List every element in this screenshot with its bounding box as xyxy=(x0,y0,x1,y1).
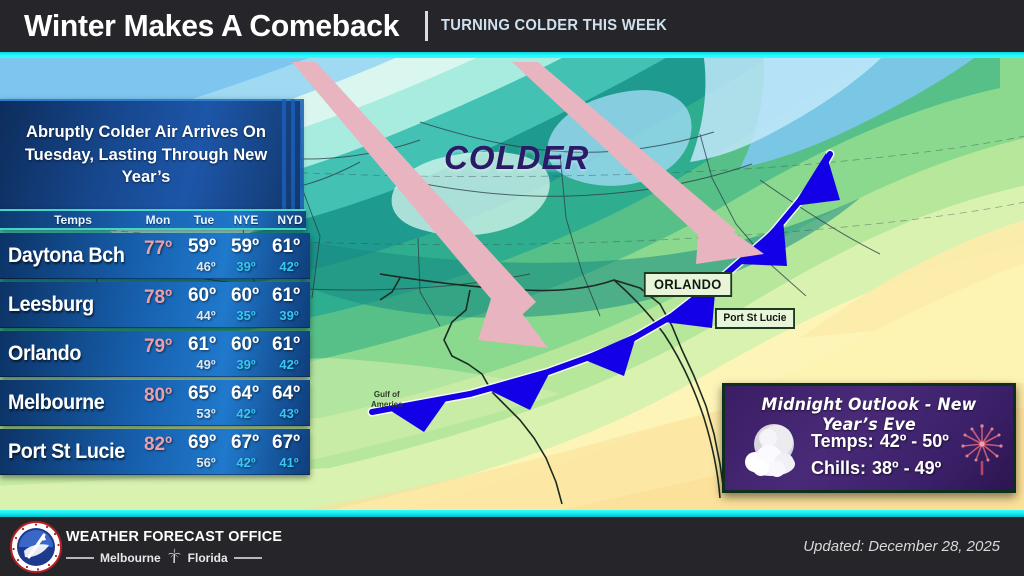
water-body-label: Gulf of America xyxy=(371,390,403,410)
cell-nyd-high: 61º xyxy=(262,334,310,356)
office-location: Melbourne Florida xyxy=(66,548,291,567)
outlook-chills-value: 38º - 49º xyxy=(872,455,941,482)
outlook-chills-label: Chills: xyxy=(811,455,866,482)
outlook-chills-row: Chills:38º - 49º xyxy=(811,455,949,482)
table-row: Melbourne 80º 65º 53º 64º 42º 64º 43º xyxy=(0,380,310,426)
cell-tue-high: 65º xyxy=(178,383,226,405)
outlook-temps-value: 42º - 50º xyxy=(880,428,949,455)
cell-nye-low: 35º xyxy=(222,308,270,323)
moon-behind-cloud-icon xyxy=(741,420,803,483)
cell-tue-high: 60º xyxy=(178,285,226,307)
cell-mon-high: 79º xyxy=(134,336,182,358)
cell-nyd-high: 61º xyxy=(262,285,310,307)
cell-nye-low: 42º xyxy=(222,455,270,470)
water-label-line1: Gulf of xyxy=(371,390,403,400)
map-label-orlando: ORLANDO xyxy=(644,272,732,297)
cell-tue-high: 61º xyxy=(178,334,226,356)
table-row: Daytona Bch 77º 59º 46º 59º 39º 61º 42º xyxy=(0,233,310,279)
rule-right xyxy=(234,557,262,559)
rule-left xyxy=(66,557,94,559)
row-city-name: Port St Lucie xyxy=(8,440,125,464)
office-identity: WEATHER FORECAST OFFICE Melbourne Florid… xyxy=(66,528,291,567)
cell-nye-low: 42º xyxy=(222,406,270,421)
panel-stripe-1 xyxy=(282,99,286,209)
column-header-mon: Mon xyxy=(134,213,182,227)
column-header-tue: Tue xyxy=(180,213,228,227)
cell-nyd-low: 42º xyxy=(265,259,313,274)
cell-nyd-low: 43º xyxy=(265,406,313,421)
table-row: Port St Lucie 82º 69º 56º 67º 42º 67º 41… xyxy=(0,429,310,475)
table-header-row: Temps Mon Tue NYE NYD xyxy=(0,209,306,230)
cell-nye-low: 39º xyxy=(222,259,270,274)
cell-nyd-low: 39º xyxy=(265,308,313,323)
office-name: WEATHER FORECAST OFFICE xyxy=(66,528,282,545)
outlook-temps-label: Temps: xyxy=(811,428,874,455)
column-header-nyd: NYD xyxy=(266,213,314,227)
outlook-temps-row: Temps:42º - 50º xyxy=(811,428,949,455)
footer-accent-bar xyxy=(0,510,1024,517)
midnight-outlook-panel: Midnight Outlook - New Year’s Eve Temps:… xyxy=(722,383,1016,493)
firework-icon xyxy=(959,422,1005,483)
cell-mon-high: 80º xyxy=(134,385,182,407)
row-city-name: Daytona Bch xyxy=(8,244,125,268)
cell-nyd-high: 64º xyxy=(262,383,310,405)
cell-nyd-high: 67º xyxy=(262,432,310,454)
column-header-temps: Temps xyxy=(28,213,118,227)
footer-bar: WEATHER FORECAST OFFICE Melbourne Florid… xyxy=(0,517,1024,576)
cell-mon-high: 82º xyxy=(134,434,182,456)
temperature-table: Temps Mon Tue NYE NYD Daytona Bch 77º 59… xyxy=(0,209,316,475)
table-row: Orlando 79º 61º 49º 60º 39º 61º 42º xyxy=(0,331,310,377)
panel-stripe-2 xyxy=(291,99,295,209)
title-divider xyxy=(425,11,428,41)
nws-logo-icon xyxy=(10,521,62,576)
office-city: Melbourne xyxy=(100,551,161,565)
header-bar: Winter Makes A Comeback TURNING COLDER T… xyxy=(0,0,1024,52)
headline-info-text: Abruptly Colder Air Arrives On Tuesday, … xyxy=(0,121,300,189)
cell-nyd-high: 61º xyxy=(262,236,310,258)
column-header-nye: NYE xyxy=(222,213,270,227)
row-city-name: Orlando xyxy=(8,342,81,366)
palm-tree-icon xyxy=(167,548,182,567)
cell-nyd-low: 41º xyxy=(265,455,313,470)
cell-mon-high: 77º xyxy=(134,238,182,260)
cell-tue-high: 69º xyxy=(178,432,226,454)
cell-mon-high: 78º xyxy=(134,287,182,309)
table-row: Leesburg 78º 60º 44º 60º 35º 61º 39º xyxy=(0,282,310,328)
cell-nye-low: 39º xyxy=(222,357,270,372)
colder-annotation: COLDER xyxy=(444,139,589,177)
row-city-name: Leesburg xyxy=(8,293,94,317)
map-label-port-st-lucie: Port St Lucie xyxy=(715,308,795,329)
weather-graphic: Winter Makes A Comeback TURNING COLDER T… xyxy=(0,0,1024,576)
page-title: Winter Makes A Comeback xyxy=(24,8,399,44)
cell-tue-high: 59º xyxy=(178,236,226,258)
row-city-name: Melbourne xyxy=(8,391,104,415)
panel-stripe-3 xyxy=(300,99,304,209)
water-label-line2: America xyxy=(371,400,403,410)
header-subtitle: TURNING COLDER THIS WEEK xyxy=(441,17,667,35)
office-state: Florida xyxy=(188,551,228,565)
headline-info-panel: Abruptly Colder Air Arrives On Tuesday, … xyxy=(0,99,300,209)
outlook-values: Temps:42º - 50º Chills:38º - 49º xyxy=(811,428,949,481)
updated-timestamp: Updated: December 28, 2025 xyxy=(803,538,1000,555)
cell-nyd-low: 42º xyxy=(265,357,313,372)
